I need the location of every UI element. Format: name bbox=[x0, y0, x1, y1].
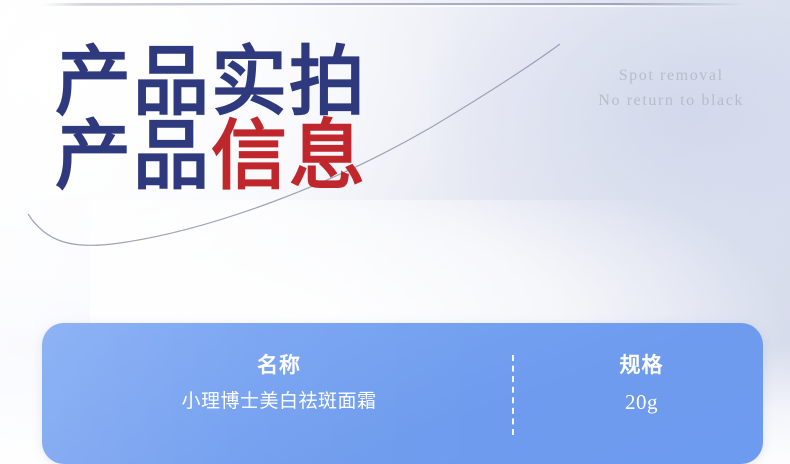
hero-headline: 产品实拍 产品信息 bbox=[55, 46, 367, 195]
hero-headline-line-1: 产品实拍 bbox=[55, 46, 367, 120]
product-spec-value: 20g bbox=[534, 392, 749, 413]
product-name-label: 名称 bbox=[64, 355, 494, 376]
product-name-field: 名称 小理博士美白祛斑面霜 bbox=[64, 355, 494, 411]
top-divider-line bbox=[42, 3, 746, 6]
tagline-line-1: Spot removal bbox=[598, 64, 744, 89]
tagline-line-2: No return to black bbox=[598, 89, 744, 114]
product-name-value: 小理博士美白祛斑面霜 bbox=[64, 392, 494, 411]
hero-headline-line-2-red: 信息 bbox=[211, 115, 367, 199]
hero-headline-line-2: 产品信息 bbox=[55, 120, 367, 194]
product-info-banner: 产品实拍 产品信息 Spot removal No return to blac… bbox=[0, 0, 790, 464]
product-spec-label: 规格 bbox=[534, 355, 749, 376]
hero-headline-line-2-navy: 产品 bbox=[55, 115, 211, 199]
card-vertical-divider bbox=[512, 355, 514, 435]
english-tagline: Spot removal No return to black bbox=[598, 64, 744, 114]
product-spec-field: 规格 20g bbox=[534, 355, 749, 413]
product-info-card: 名称 小理博士美白祛斑面霜 规格 20g bbox=[42, 323, 763, 464]
